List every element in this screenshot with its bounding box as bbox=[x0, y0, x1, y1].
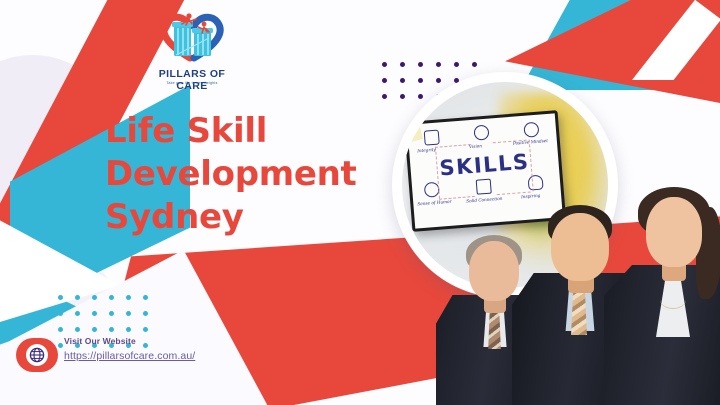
person-right bbox=[604, 189, 720, 405]
page-title: Life Skill Development Sydney bbox=[105, 110, 405, 240]
decorative-dot bbox=[382, 94, 387, 99]
decorative-dot bbox=[92, 295, 97, 300]
logo-wordmark: PILLARS OF CARE bbox=[146, 68, 238, 92]
logo-tagline: Take your life to new heights bbox=[146, 81, 238, 85]
globe-icon bbox=[26, 344, 48, 366]
decorative-dot bbox=[400, 78, 405, 83]
trophy-icon bbox=[424, 130, 440, 146]
connector-line bbox=[435, 144, 471, 148]
decorative-dot bbox=[400, 94, 405, 99]
decorative-dot bbox=[58, 295, 63, 300]
decorative-dot bbox=[418, 94, 423, 99]
logo-mark bbox=[146, 8, 238, 68]
decorative-dot bbox=[126, 295, 131, 300]
decorative-dot bbox=[436, 78, 441, 83]
board-label: Integrity bbox=[417, 147, 436, 153]
board-label: Positive Mindset bbox=[513, 138, 548, 146]
decorative-dot bbox=[75, 311, 80, 316]
globe-icon-badge bbox=[16, 338, 58, 372]
decorative-dot bbox=[143, 327, 148, 332]
headline-line-2: Development bbox=[105, 153, 405, 196]
decorative-dot bbox=[58, 311, 63, 316]
decorative-dot bbox=[58, 327, 63, 332]
decorative-dot bbox=[92, 311, 97, 316]
website-url-link[interactable]: https://pillarsofcare.com.au/ bbox=[64, 350, 195, 362]
decorative-dot bbox=[454, 62, 459, 67]
decorative-dot bbox=[109, 295, 114, 300]
footer-text-block: Visit Our Website https://pillarsofcare.… bbox=[64, 336, 195, 364]
decorative-dot bbox=[126, 311, 131, 316]
decorative-dot bbox=[75, 295, 80, 300]
necklace bbox=[660, 290, 686, 309]
decorative-dot bbox=[418, 78, 423, 83]
decorative-dot bbox=[418, 62, 423, 67]
decorative-dot bbox=[58, 343, 63, 348]
decorative-dot bbox=[109, 311, 114, 316]
headline-line-3: Sydney bbox=[105, 196, 405, 239]
sticky-note-icon bbox=[402, 118, 423, 144]
face bbox=[551, 213, 609, 281]
decorative-dot bbox=[382, 78, 387, 83]
decorative-dot bbox=[472, 62, 477, 67]
globe-glyph bbox=[29, 347, 45, 363]
decorative-dot bbox=[75, 327, 80, 332]
decorative-dot bbox=[126, 327, 131, 332]
brand-logo[interactable]: PILLARS OF CARE Take your life to new he… bbox=[146, 8, 238, 94]
visit-website-label: Visit Our Website bbox=[64, 336, 195, 346]
business-team-photo bbox=[436, 168, 720, 405]
decorative-dot bbox=[436, 62, 441, 67]
magnifier-icon bbox=[473, 125, 489, 141]
decorative-dot bbox=[143, 295, 148, 300]
decorative-dot bbox=[400, 62, 405, 67]
face bbox=[646, 197, 702, 267]
target-icon bbox=[523, 122, 539, 138]
decorative-dot bbox=[92, 327, 97, 332]
decorative-dot bbox=[143, 311, 148, 316]
banner-canvas: Integrity Vision Positive Mindset Sense … bbox=[0, 0, 720, 405]
headline-line-1: Life Skill bbox=[105, 110, 405, 153]
decorative-dot bbox=[382, 62, 387, 67]
board-label: Vision bbox=[469, 143, 482, 149]
decorative-dot bbox=[109, 327, 114, 332]
